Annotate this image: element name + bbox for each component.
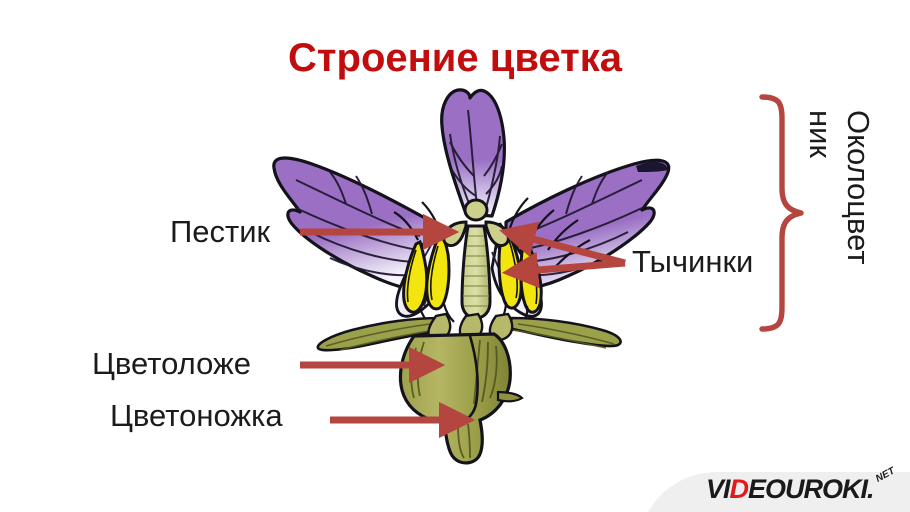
- receptacle-pedicel-group: [400, 334, 522, 463]
- flower-diagram: [0, 0, 910, 512]
- label-pedicel: Цветоножка: [110, 400, 283, 431]
- label-perianth-line2: ник: [805, 110, 836, 158]
- label-receptacle: Цветоложе: [92, 348, 251, 379]
- perianth-brace: [762, 97, 801, 329]
- watermark-brand: VIDEOUROKI.: [706, 474, 874, 505]
- label-stamens: Тычинки: [632, 246, 753, 277]
- slide-canvas: Строение цветка: [0, 0, 910, 512]
- watermark-brand-vi: VI: [706, 474, 730, 504]
- label-pistil: Пестик: [170, 216, 270, 247]
- receptacle: [400, 334, 510, 463]
- label-perianth-line1: Околоцвет: [843, 110, 874, 265]
- watermark-brand-d: D: [730, 474, 749, 504]
- watermark: VIDEOUROKI. NET: [648, 465, 910, 512]
- watermark-brand-rest: EOUROKI.: [748, 474, 874, 504]
